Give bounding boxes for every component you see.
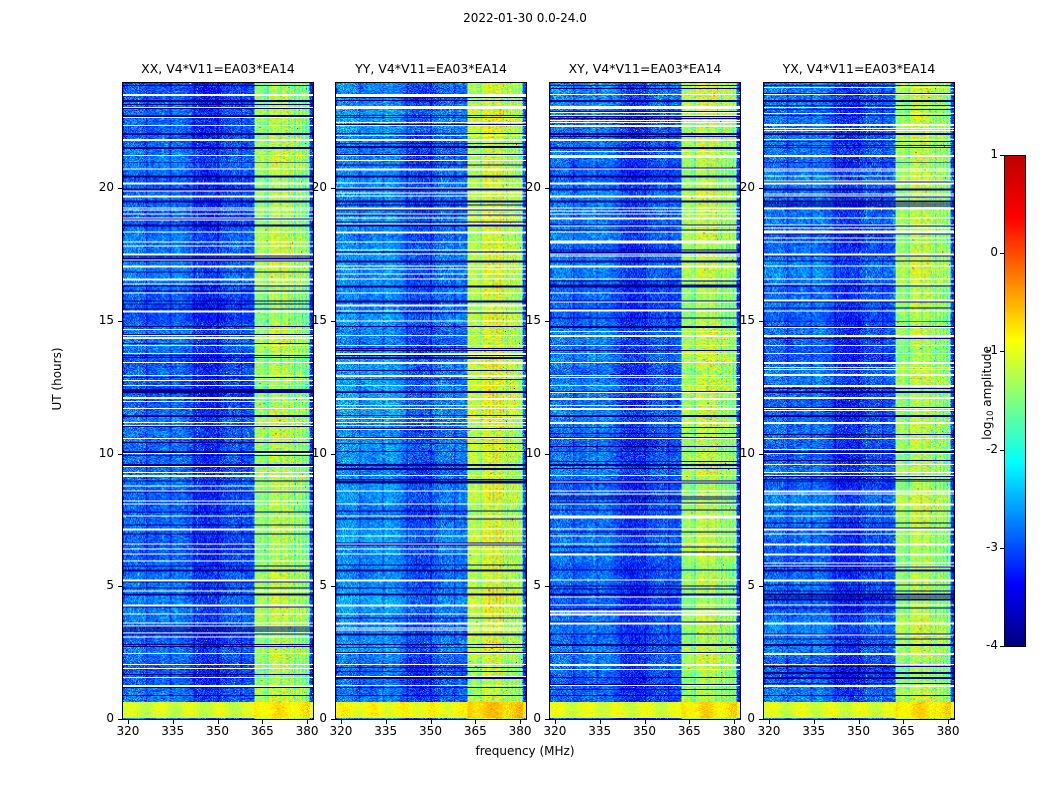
x-tick-label: 320 bbox=[108, 724, 148, 738]
x-tick-mark bbox=[903, 720, 904, 724]
y-tick-label: 0 bbox=[715, 711, 755, 725]
y-tick-mark bbox=[759, 586, 763, 587]
y-tick-label: 5 bbox=[715, 578, 755, 592]
panel-title-yx: YX, V4*V11=EA03*EA14 bbox=[763, 60, 955, 78]
y-tick-label: 15 bbox=[715, 313, 755, 327]
y-tick-label: 5 bbox=[287, 578, 327, 592]
y-tick-mark bbox=[331, 586, 335, 587]
waterfall-panel-xx[interactable] bbox=[122, 82, 314, 720]
y-tick-label: 15 bbox=[501, 313, 541, 327]
y-tick-label: 10 bbox=[715, 446, 755, 460]
y-tick-mark bbox=[759, 188, 763, 189]
y-tick-mark bbox=[759, 719, 763, 720]
x-tick-label: 365 bbox=[883, 724, 923, 738]
y-tick-mark bbox=[331, 454, 335, 455]
waterfall-panel-xy[interactable] bbox=[549, 82, 741, 720]
x-tick-label: 320 bbox=[321, 724, 361, 738]
colorbar[interactable] bbox=[1004, 155, 1026, 647]
x-tick-mark bbox=[341, 720, 342, 724]
colorbar-tick-label: -3 bbox=[974, 540, 998, 554]
x-tick-mark bbox=[555, 720, 556, 724]
x-tick-mark bbox=[859, 720, 860, 724]
y-tick-label: 15 bbox=[74, 313, 114, 327]
x-tick-label: 320 bbox=[535, 724, 575, 738]
colorbar-label-sub: 10 bbox=[986, 411, 996, 422]
y-tick-mark bbox=[118, 321, 122, 322]
colorbar-label: log10 amplitude bbox=[980, 333, 996, 453]
figure-canvas: 2022-01-30 0.0-24.0 XX, V4*V11=EA03*EA14… bbox=[0, 0, 1050, 800]
y-tick-mark bbox=[545, 321, 549, 322]
y-tick-label: 10 bbox=[501, 446, 541, 460]
y-tick-label: 0 bbox=[287, 711, 327, 725]
y-tick-mark bbox=[331, 719, 335, 720]
y-tick-label: 20 bbox=[287, 180, 327, 194]
y-tick-mark bbox=[118, 188, 122, 189]
x-tick-mark bbox=[386, 720, 387, 724]
y-tick-mark bbox=[759, 321, 763, 322]
y-tick-label: 5 bbox=[501, 578, 541, 592]
y-tick-mark bbox=[331, 188, 335, 189]
y-tick-mark bbox=[118, 454, 122, 455]
x-tick-label: 350 bbox=[411, 724, 451, 738]
panel-title-xx: XX, V4*V11=EA03*EA14 bbox=[122, 60, 314, 78]
y-tick-label: 0 bbox=[501, 711, 541, 725]
panel-title-yy: YY, V4*V11=EA03*EA14 bbox=[335, 60, 527, 78]
y-tick-label: 10 bbox=[74, 446, 114, 460]
y-tick-mark bbox=[545, 586, 549, 587]
x-tick-label: 335 bbox=[366, 724, 406, 738]
x-tick-label: 335 bbox=[580, 724, 620, 738]
y-tick-label: 0 bbox=[74, 711, 114, 725]
x-tick-mark bbox=[689, 720, 690, 724]
y-tick-label: 15 bbox=[287, 313, 327, 327]
waterfall-panel-yy[interactable] bbox=[335, 82, 527, 720]
y-tick-mark bbox=[545, 188, 549, 189]
x-tick-mark bbox=[475, 720, 476, 724]
y-tick-label: 5 bbox=[74, 578, 114, 592]
y-tick-label: 10 bbox=[287, 446, 327, 460]
x-tick-label: 335 bbox=[153, 724, 193, 738]
x-tick-mark bbox=[128, 720, 129, 724]
y-tick-mark bbox=[118, 719, 122, 720]
panel-title-xy: XY, V4*V11=EA03*EA14 bbox=[549, 60, 741, 78]
x-tick-mark bbox=[431, 720, 432, 724]
colorbar-tick-label: 1 bbox=[974, 147, 998, 161]
colorbar-label-suffix: amplitude bbox=[980, 346, 994, 410]
x-tick-label: 380 bbox=[928, 724, 968, 738]
x-tick-mark bbox=[814, 720, 815, 724]
y-tick-label: 20 bbox=[715, 180, 755, 194]
waterfall-panel-yx[interactable] bbox=[763, 82, 955, 720]
figure-suptitle: 2022-01-30 0.0-24.0 bbox=[0, 11, 1050, 25]
colorbar-tick-label: 0 bbox=[974, 245, 998, 259]
y-axis-label: UT (hours) bbox=[50, 319, 64, 439]
x-tick-mark bbox=[769, 720, 770, 724]
x-tick-mark bbox=[948, 720, 949, 724]
x-tick-mark bbox=[600, 720, 601, 724]
x-tick-mark bbox=[218, 720, 219, 724]
y-tick-mark bbox=[331, 321, 335, 322]
x-axis-label: frequency (MHz) bbox=[0, 744, 1050, 758]
x-tick-mark bbox=[645, 720, 646, 724]
y-tick-mark bbox=[118, 586, 122, 587]
colorbar-label-prefix: log bbox=[980, 422, 994, 440]
y-tick-mark bbox=[545, 454, 549, 455]
y-tick-mark bbox=[545, 719, 549, 720]
x-tick-label: 365 bbox=[455, 724, 495, 738]
x-tick-label: 335 bbox=[794, 724, 834, 738]
y-tick-label: 20 bbox=[74, 180, 114, 194]
x-tick-mark bbox=[262, 720, 263, 724]
x-tick-label: 350 bbox=[839, 724, 879, 738]
x-tick-mark bbox=[173, 720, 174, 724]
x-tick-label: 350 bbox=[625, 724, 665, 738]
colorbar-tick-label: -4 bbox=[974, 638, 998, 652]
y-tick-label: 20 bbox=[501, 180, 541, 194]
y-tick-mark bbox=[759, 454, 763, 455]
x-tick-label: 365 bbox=[669, 724, 709, 738]
x-tick-label: 320 bbox=[749, 724, 789, 738]
x-tick-label: 365 bbox=[242, 724, 282, 738]
x-tick-label: 350 bbox=[198, 724, 238, 738]
